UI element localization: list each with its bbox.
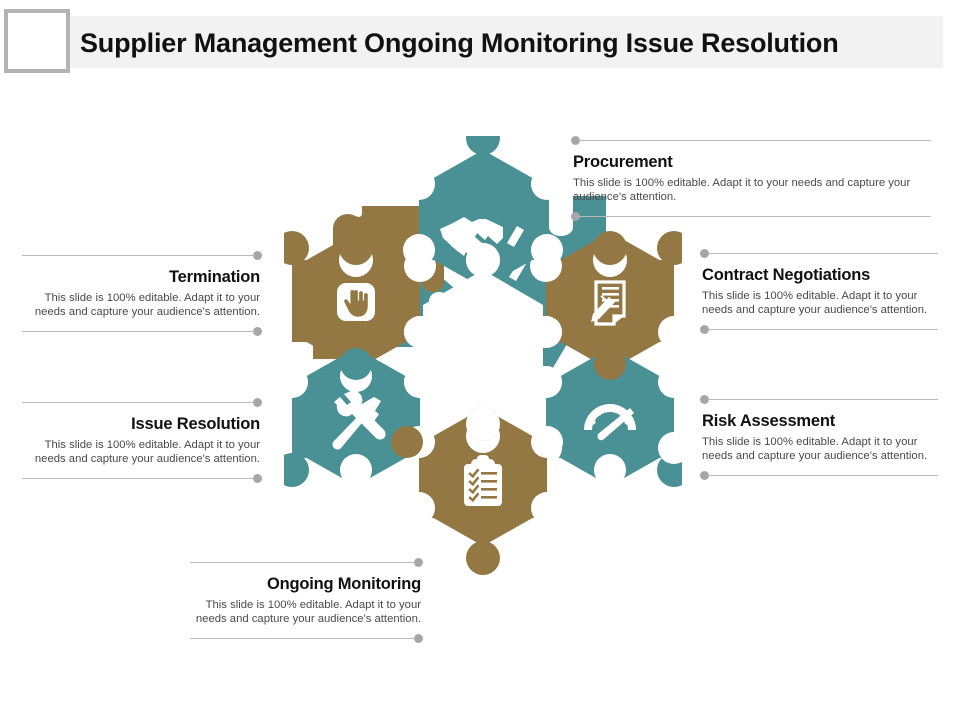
callout-title-procurement: Procurement bbox=[573, 152, 929, 173]
connector-rule bbox=[190, 562, 416, 563]
connector-line-bottom bbox=[700, 471, 938, 480]
header-logo-placeholder bbox=[4, 9, 70, 73]
connector-rule bbox=[190, 638, 416, 639]
connector-line-top bbox=[571, 136, 931, 145]
callout-issue-resolution: Issue Resolution This slide is 100% edit… bbox=[22, 398, 262, 483]
connector-rule bbox=[707, 253, 938, 254]
connector-rule bbox=[707, 475, 938, 476]
callout-title-ongoing-monitoring: Ongoing Monitoring bbox=[192, 574, 421, 595]
connector-line-top bbox=[22, 398, 262, 407]
page-title: Supplier Management Ongoing Monitoring I… bbox=[80, 22, 940, 64]
connector-line-bottom bbox=[190, 634, 423, 643]
connector-rule bbox=[22, 331, 255, 332]
connector-line-top bbox=[700, 395, 938, 404]
callout-description-risk-assessment: This slide is 100% editable. Adapt it to… bbox=[702, 435, 936, 463]
connector-line-top bbox=[190, 558, 423, 567]
callout-title-termination: Termination bbox=[24, 267, 260, 288]
stop-hand-icon bbox=[337, 283, 375, 321]
callout-description-termination: This slide is 100% editable. Adapt it to… bbox=[24, 291, 260, 319]
connector-line-top bbox=[700, 249, 938, 258]
callout-ongoing-monitoring: Ongoing Monitoring This slide is 100% ed… bbox=[190, 558, 423, 643]
connector-rule bbox=[22, 478, 255, 479]
connector-rule bbox=[578, 140, 931, 141]
connector-line-top bbox=[22, 251, 262, 260]
connector-line-bottom bbox=[22, 474, 262, 483]
connector-rule bbox=[22, 402, 255, 403]
connector-rule bbox=[707, 399, 938, 400]
callout-description-contract-negotiations: This slide is 100% editable. Adapt it to… bbox=[702, 289, 936, 317]
connector-line-bottom bbox=[22, 327, 262, 336]
connector-line-bottom bbox=[700, 325, 938, 334]
callout-risk-assessment: Risk Assessment This slide is 100% edita… bbox=[700, 395, 938, 480]
callout-procurement: Procurement This slide is 100% editable.… bbox=[571, 136, 931, 221]
callout-title-contract-negotiations: Contract Negotiations bbox=[702, 265, 936, 286]
callout-contract-negotiations: Contract Negotiations This slide is 100%… bbox=[700, 249, 938, 334]
connector-rule bbox=[578, 216, 931, 217]
callout-description-ongoing-monitoring: This slide is 100% editable. Adapt it to… bbox=[192, 598, 421, 626]
callout-title-risk-assessment: Risk Assessment bbox=[702, 411, 936, 432]
callout-title-issue-resolution: Issue Resolution bbox=[24, 414, 260, 435]
callout-description-issue-resolution: This slide is 100% editable. Adapt it to… bbox=[24, 438, 260, 466]
connector-rule bbox=[22, 255, 255, 256]
callout-description-procurement: This slide is 100% editable. Adapt it to… bbox=[573, 176, 929, 204]
callout-termination: Termination This slide is 100% editable.… bbox=[22, 251, 262, 336]
connector-line-bottom bbox=[571, 212, 931, 221]
slide-canvas: Supplier Management Ongoing Monitoring I… bbox=[0, 0, 960, 720]
connector-rule bbox=[707, 329, 938, 330]
